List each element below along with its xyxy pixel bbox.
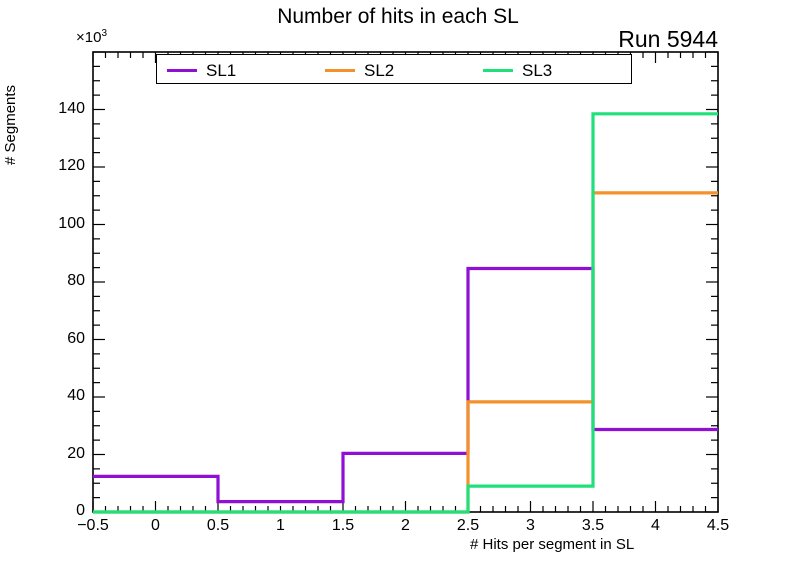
x-tick-label: 1.5 [313, 517, 373, 535]
y-tick-label: 80 [37, 272, 85, 290]
y-tick-label: 60 [37, 330, 85, 348]
y-tick-label: 20 [37, 445, 85, 463]
x-tick-label: 4 [626, 517, 686, 535]
x-tick-label: 4.5 [688, 517, 748, 535]
histogram-series-sl2 [93, 193, 718, 512]
legend-entry-2[interactable]: SL3 [483, 59, 552, 81]
x-tick-label: 2.5 [438, 517, 498, 535]
legend-entry-0[interactable]: SL1 [167, 59, 236, 81]
y-tick-label: 40 [37, 387, 85, 405]
histogram-series-sl1 [93, 268, 718, 501]
legend-swatch-1 [325, 69, 355, 72]
x-tick-label: 2 [376, 517, 436, 535]
x-tick-label: 3 [501, 517, 561, 535]
legend-swatch-2 [483, 69, 513, 72]
x-tick-label: 1 [251, 517, 311, 535]
x-tick-label: 0 [126, 517, 186, 535]
legend-swatch-0 [167, 69, 197, 72]
y-tick-label: 100 [37, 215, 85, 233]
legend-label-0: SL1 [206, 62, 236, 79]
x-tick-label: 3.5 [563, 517, 623, 535]
y-tick-label: 140 [37, 100, 85, 118]
legend-label-2: SL3 [522, 62, 552, 79]
plot-area [0, 0, 796, 572]
x-tick-label: −0.5 [63, 517, 123, 535]
x-tick-label: 0.5 [188, 517, 248, 535]
plot-frame [93, 52, 718, 512]
chart-canvas: Number of hits in each SL Run 5944 # Seg… [0, 0, 796, 572]
y-tick-label: 120 [37, 157, 85, 175]
legend-label-1: SL2 [364, 62, 394, 79]
legend: SL1 SL2 SL3 [156, 54, 632, 84]
legend-entry-1[interactable]: SL2 [325, 59, 394, 81]
